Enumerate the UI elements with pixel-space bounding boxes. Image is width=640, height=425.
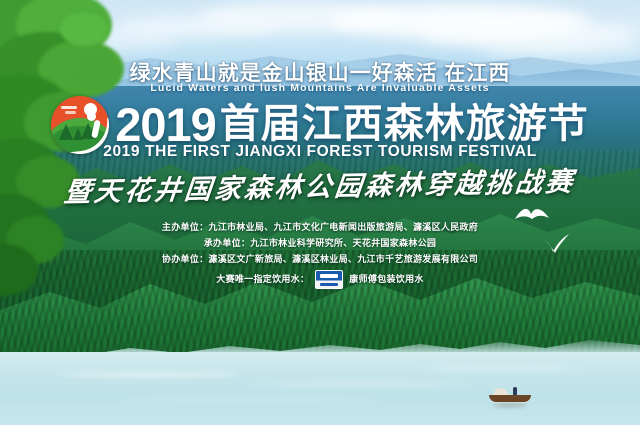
- sponsor-water-brand: 康师傅包装饮用水: [349, 269, 423, 289]
- boat-hull: [489, 395, 531, 402]
- master-kong-logo-icon: [315, 270, 343, 289]
- water-reflection: [420, 366, 580, 371]
- lake-water: [0, 352, 640, 425]
- title-english: 2019 THE FIRST JIANGXI FOREST TOURISM FE…: [0, 143, 640, 161]
- festival-poster: 绿水青山就是金山银山一好森活 在江西 Lucid Waters and lush…: [0, 0, 640, 425]
- title-chinese: 首届江西森林旅游节: [220, 104, 589, 144]
- sponsor-water-line: 大赛唯一指定饮用水： 康师傅包装饮用水: [0, 269, 640, 289]
- water-reflection: [250, 382, 470, 386]
- main-title-row: 2019 首届江西森林旅游节: [0, 99, 640, 149]
- water-reflection: [120, 398, 380, 402]
- sponsor-water-label: 大赛唯一指定饮用水：: [216, 269, 309, 289]
- organizer-line-coorganizer: 协办单位：濂溪区文广新旅局、濂溪区林业局、九江市千艺旅游发展有限公司: [0, 251, 640, 267]
- organizer-line-host: 主办单位：九江市林业局、九江市文化广电新闻出版旅游局、濂溪区人民政府: [0, 219, 640, 235]
- organizer-block: 主办单位：九江市林业局、九江市文化广电新闻出版旅游局、濂溪区人民政府 承办单位：…: [0, 219, 640, 289]
- tree-foliage: [60, 12, 108, 46]
- logo-cloud: [61, 106, 77, 109]
- fishing-boat: [487, 385, 533, 405]
- cloud: [480, 40, 640, 58]
- organizer-line-undertaker: 承办单位：九江市林业科学研究所、天花井国家森林公园: [0, 235, 640, 251]
- logo-cloud: [65, 111, 76, 114]
- title-year: 2019: [115, 101, 216, 148]
- boat-reflection: [493, 403, 527, 407]
- water-reflection: [60, 372, 240, 377]
- slogan-english: Lucid Waters and lush Mountains Are Inva…: [0, 82, 640, 94]
